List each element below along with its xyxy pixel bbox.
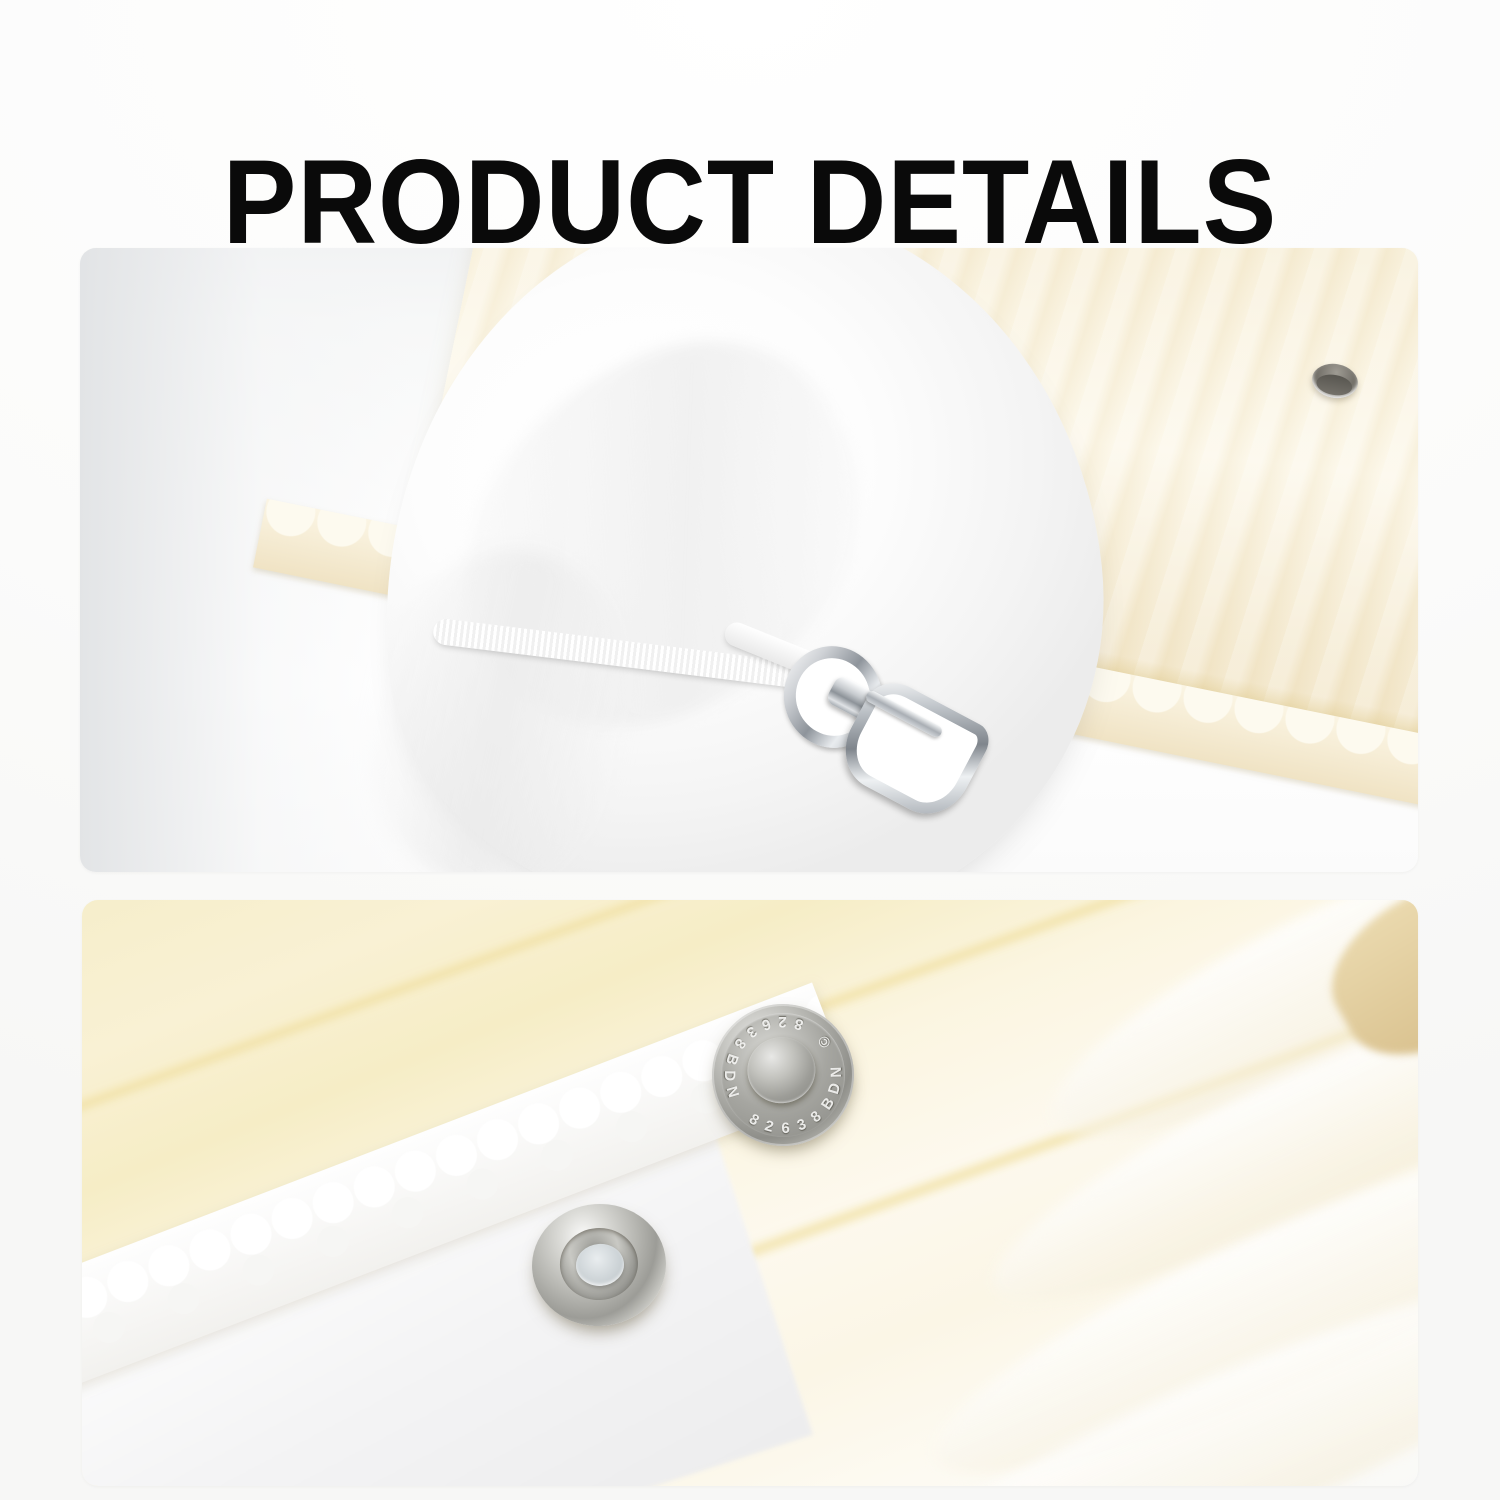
detail-panel-traction-rope[interactable]: Built-in Traction Fixed Rope bbox=[80, 248, 1418, 872]
detail-panel-magnetic-button[interactable]: Button Fixing For Easy Opening And Closi… bbox=[82, 900, 1418, 1486]
product-photo-traction-rope bbox=[80, 248, 1418, 872]
product-photo-magnetic-button bbox=[82, 900, 1418, 1486]
snap-socket-hole bbox=[575, 1242, 626, 1287]
product-details-page: PRODUCT DETAILS Built-in Traction Fixed … bbox=[0, 0, 1500, 1500]
page-title: PRODUCT DETAILS bbox=[60, 142, 1440, 262]
snap-socket-ring bbox=[558, 1225, 641, 1302]
swivel-lobster-clasp-icon bbox=[770, 638, 1000, 798]
